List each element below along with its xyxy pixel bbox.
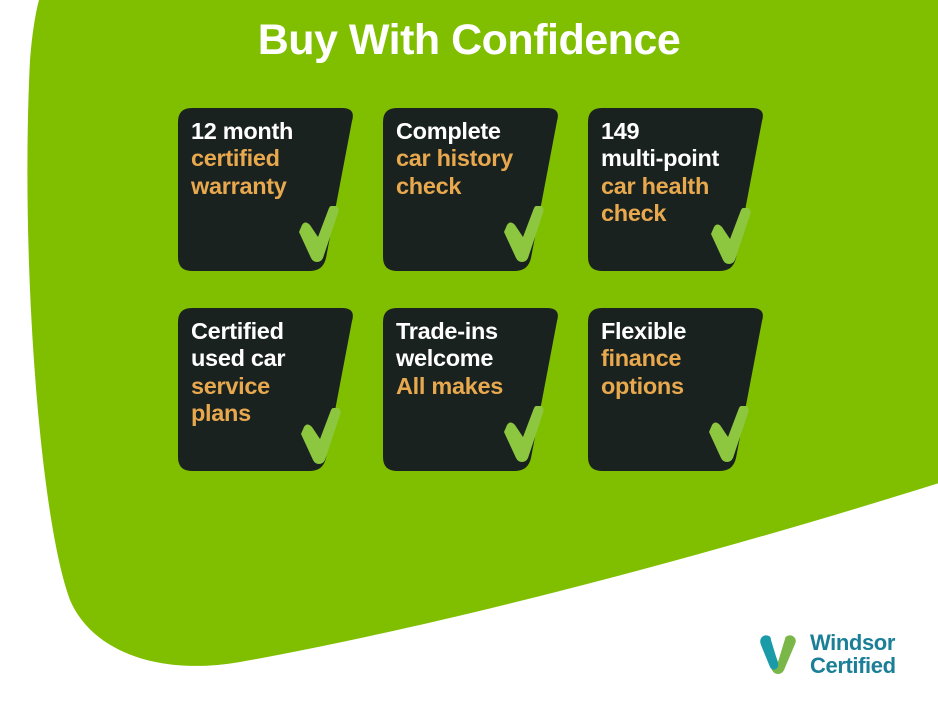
card-line: Certified — [191, 318, 341, 345]
card-line: All makes — [396, 373, 546, 400]
brand-logo[interactable]: Windsor Certified — [757, 628, 927, 680]
card-line: check — [396, 173, 546, 200]
card-line: used car — [191, 345, 341, 372]
brand-wordmark: Windsor Certified — [810, 631, 896, 678]
check-icon — [706, 406, 752, 462]
card-line: warranty — [191, 173, 341, 200]
check-icon — [298, 408, 344, 464]
card-text: 12 month certified warranty — [191, 118, 341, 200]
card-line: welcome — [396, 345, 546, 372]
feature-card-certified-warranty[interactable]: 12 month certified warranty — [178, 108, 356, 271]
card-text: Complete car history check — [396, 118, 546, 200]
feature-card-multi-point-health-check[interactable]: 149 multi-point car health check — [588, 108, 766, 271]
card-line: 149 — [601, 118, 751, 145]
poster-canvas: Buy With Confidence 12 month certified w… — [0, 0, 938, 704]
card-line: Trade-ins — [396, 318, 546, 345]
card-row: Certified used car service plans Trade-i… — [178, 308, 758, 471]
brand-name-line1: Windsor — [810, 631, 896, 654]
brand-name-line2: Certified — [810, 654, 896, 677]
check-icon — [501, 406, 547, 462]
card-line: finance — [601, 345, 751, 372]
card-line: certified — [191, 145, 341, 172]
feature-card-used-car-service-plans[interactable]: Certified used car service plans — [178, 308, 356, 471]
check-icon — [501, 206, 547, 262]
feature-card-car-history-check[interactable]: Complete car history check — [383, 108, 561, 271]
check-icon — [708, 208, 754, 264]
card-row: 12 month certified warranty Complete car… — [178, 108, 758, 271]
check-icon — [296, 206, 342, 262]
card-text: Trade-ins welcome All makes — [396, 318, 546, 400]
card-text: Flexible finance options — [601, 318, 751, 400]
card-line: Complete — [396, 118, 546, 145]
card-line: service — [191, 373, 341, 400]
windsor-w-icon — [757, 633, 803, 675]
card-line: options — [601, 373, 751, 400]
feature-cards-grid: 12 month certified warranty Complete car… — [178, 108, 758, 508]
card-line: 12 month — [191, 118, 341, 145]
feature-card-flexible-finance-options[interactable]: Flexible finance options — [588, 308, 766, 471]
feature-card-trade-ins-welcome[interactable]: Trade-ins welcome All makes — [383, 308, 561, 471]
card-line: multi-point — [601, 145, 751, 172]
card-line: Flexible — [601, 318, 751, 345]
card-line: car history — [396, 145, 546, 172]
page-title: Buy With Confidence — [0, 18, 938, 63]
card-line: car health — [601, 173, 751, 200]
